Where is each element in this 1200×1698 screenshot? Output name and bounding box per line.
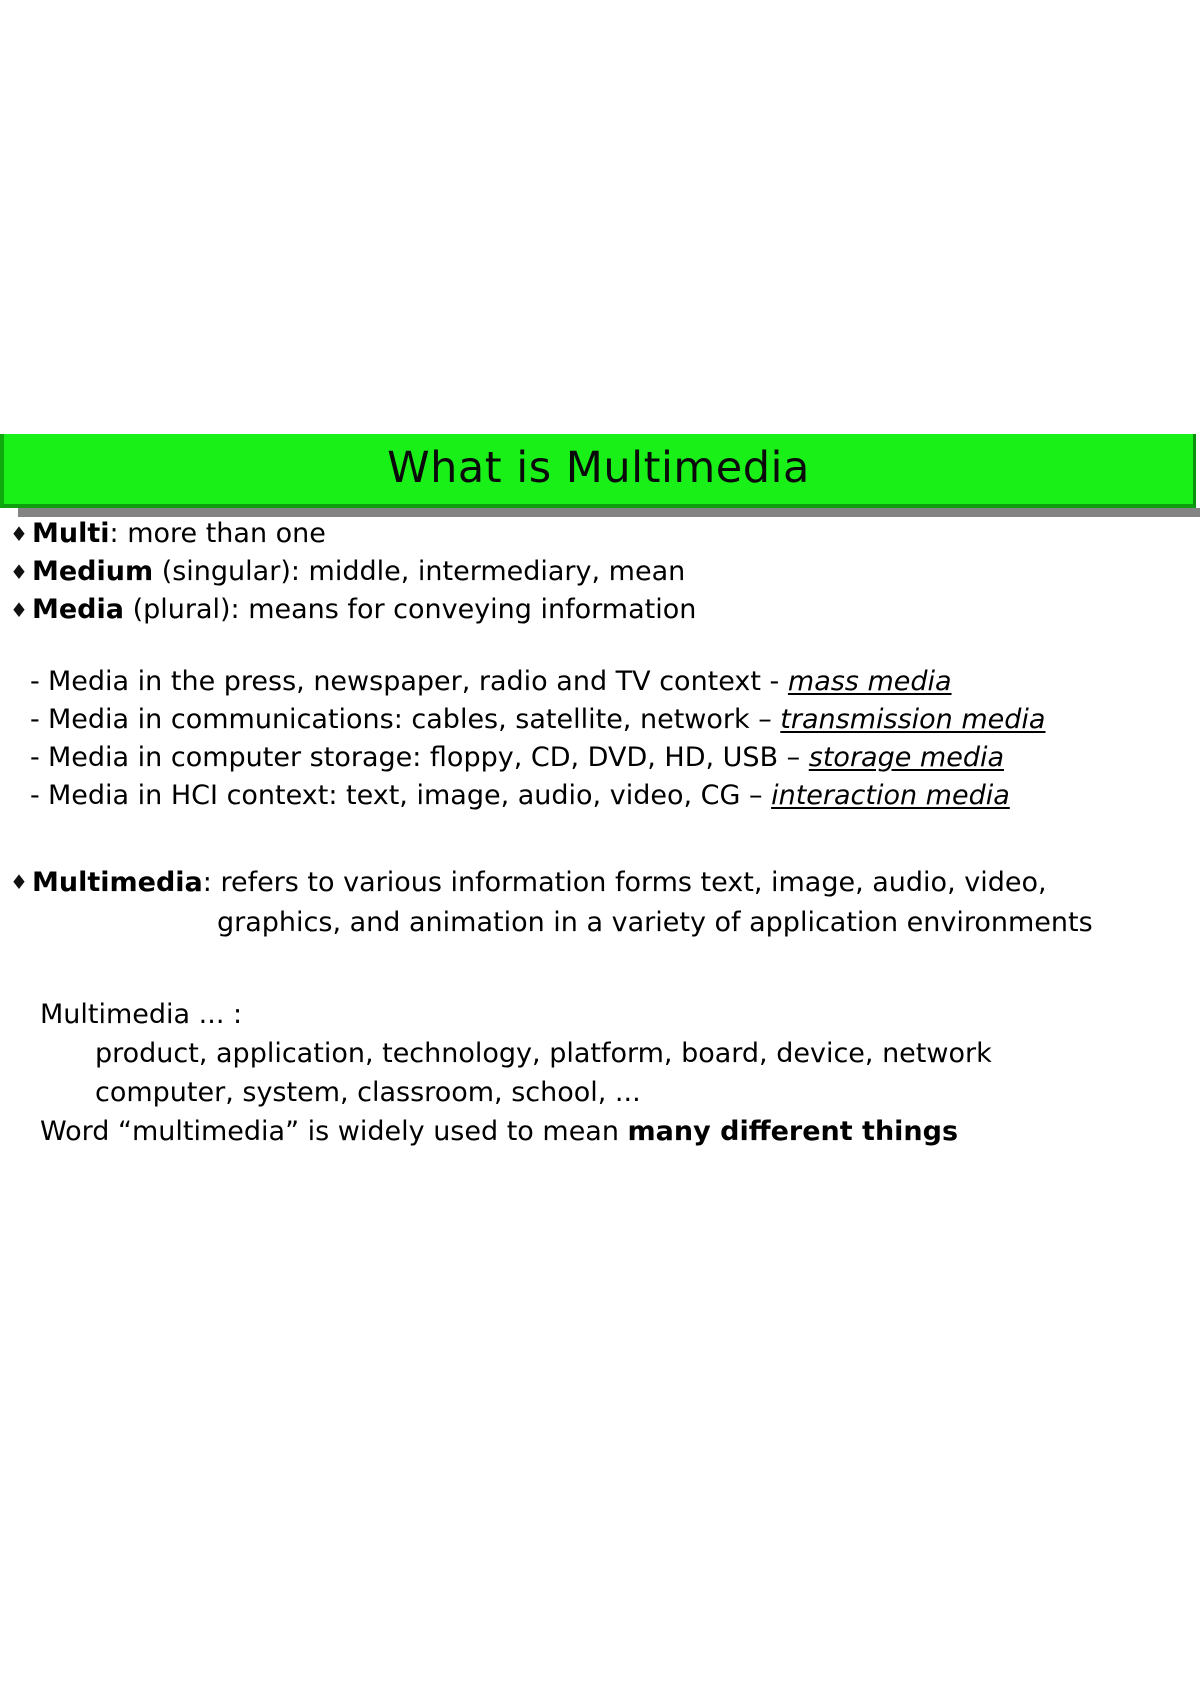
definition-text: Medium (singular): middle, intermediary,… — [32, 553, 1200, 591]
definition-term: Media — [32, 594, 124, 625]
list-item: ♦ Medium (singular): middle, intermediar… — [0, 553, 1200, 591]
multimedia-definition-line1: : refers to various information forms te… — [203, 867, 1047, 898]
slide-body: ♦ Multi: more than one ♦ Medium (singula… — [0, 515, 1200, 1151]
media-contexts-list: - Media in the press, newspaper, radio a… — [0, 663, 1200, 815]
media-context-term: mass media — [788, 666, 952, 697]
diamond-bullet-icon: ♦ — [10, 515, 32, 553]
closing-examples-line1: product, application, technology, platfo… — [40, 1034, 1200, 1073]
media-context-description: Media in the press, newspaper, radio and… — [48, 666, 788, 697]
media-context-term: transmission media — [780, 704, 1045, 735]
media-context-text: Media in communications: cables, satelli… — [48, 701, 1200, 739]
media-context-term: storage media — [809, 742, 1004, 773]
media-context-description: Media in computer storage: floppy, CD, D… — [48, 742, 809, 773]
definition-rest: (singular): middle, intermediary, mean — [153, 556, 685, 587]
diamond-bullet-icon: ♦ — [10, 863, 32, 901]
closing-examples-line2: computer, system, classroom, school, ... — [40, 1073, 1200, 1112]
definition-term: Multi — [32, 518, 110, 549]
multimedia-definition-line2: graphics, and animation in a variety of … — [32, 903, 1200, 943]
page-title: What is Multimedia — [387, 443, 810, 493]
definition-rest: : more than one — [110, 518, 326, 549]
list-item: - Media in the press, newspaper, radio a… — [0, 663, 1200, 701]
multimedia-definition-body: Multimedia: refers to various informatio… — [32, 863, 1200, 943]
closing-final-prefix: Word “multimedia” is widely used to mean — [40, 1116, 628, 1147]
list-item: ♦ Multi: more than one — [0, 515, 1200, 553]
list-item: ♦ Media (plural): means for conveying in… — [0, 591, 1200, 629]
dash-bullet-icon: - — [30, 701, 48, 739]
media-context-text: Media in computer storage: floppy, CD, D… — [48, 739, 1200, 777]
dash-bullet-icon: - — [30, 777, 48, 815]
media-context-term: interaction media — [771, 780, 1010, 811]
closing-final-statement: Word “multimedia” is widely used to mean… — [40, 1112, 1200, 1151]
dash-bullet-icon: - — [30, 739, 48, 777]
closing-block: Multimedia ... : product, application, t… — [0, 995, 1200, 1151]
multimedia-definition-label: Multimedia — [32, 867, 203, 898]
media-context-text: Media in the press, newspaper, radio and… — [48, 663, 1200, 701]
closing-final-emphasis: many different things — [628, 1116, 959, 1147]
media-context-text: Media in HCI context: text, image, audio… — [48, 777, 1200, 815]
closing-heading: Multimedia ... : — [40, 995, 1200, 1034]
list-item: - Media in communications: cables, satel… — [0, 701, 1200, 739]
list-item: - Media in HCI context: text, image, aud… — [0, 777, 1200, 815]
diamond-bullet-icon: ♦ — [10, 591, 32, 629]
multimedia-definition: ♦ Multimedia: refers to various informat… — [0, 863, 1200, 943]
definition-text: Media (plural): means for conveying info… — [32, 591, 1200, 629]
definition-rest: (plural): means for conveying informatio… — [124, 594, 696, 625]
definition-text: Multi: more than one — [32, 515, 1200, 553]
dash-bullet-icon: - — [30, 663, 48, 701]
slide-title-banner: What is Multimedia — [0, 434, 1196, 508]
diamond-bullet-icon: ♦ — [10, 553, 32, 591]
media-context-description: Media in communications: cables, satelli… — [48, 704, 780, 735]
definition-term: Medium — [32, 556, 153, 587]
list-item: - Media in computer storage: floppy, CD,… — [0, 739, 1200, 777]
media-context-description: Media in HCI context: text, image, audio… — [48, 780, 771, 811]
definitions-list: ♦ Multi: more than one ♦ Medium (singula… — [0, 515, 1200, 629]
